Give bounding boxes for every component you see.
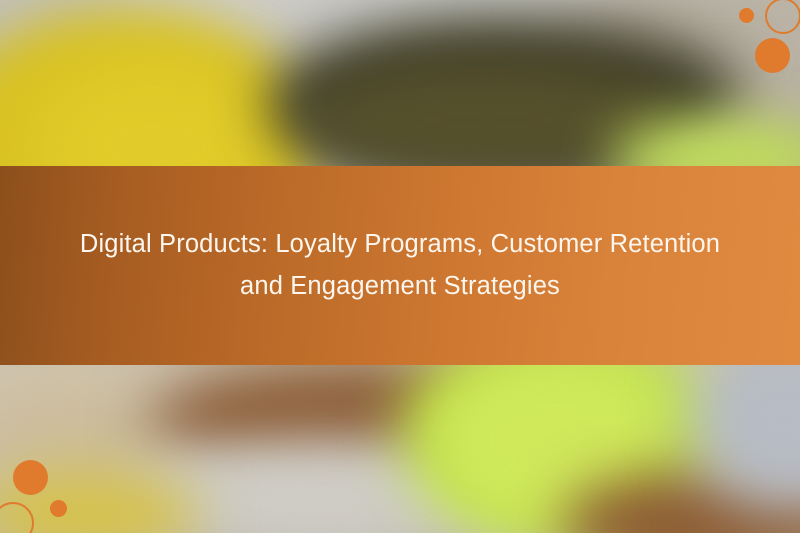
decoration-circle-bottom-left-small (50, 500, 67, 517)
decoration-circle-top-right-large (755, 38, 790, 73)
title-banner: Digital Products: Loyalty Programs, Cust… (0, 166, 800, 365)
decoration-circle-bottom-left-large (13, 460, 48, 495)
featured-image-card: Digital Products: Loyalty Programs, Cust… (0, 0, 800, 533)
page-title: Digital Products: Loyalty Programs, Cust… (50, 224, 750, 307)
decoration-circle-top-right-small (739, 8, 754, 23)
decoration-ring-top-right (765, 0, 800, 34)
